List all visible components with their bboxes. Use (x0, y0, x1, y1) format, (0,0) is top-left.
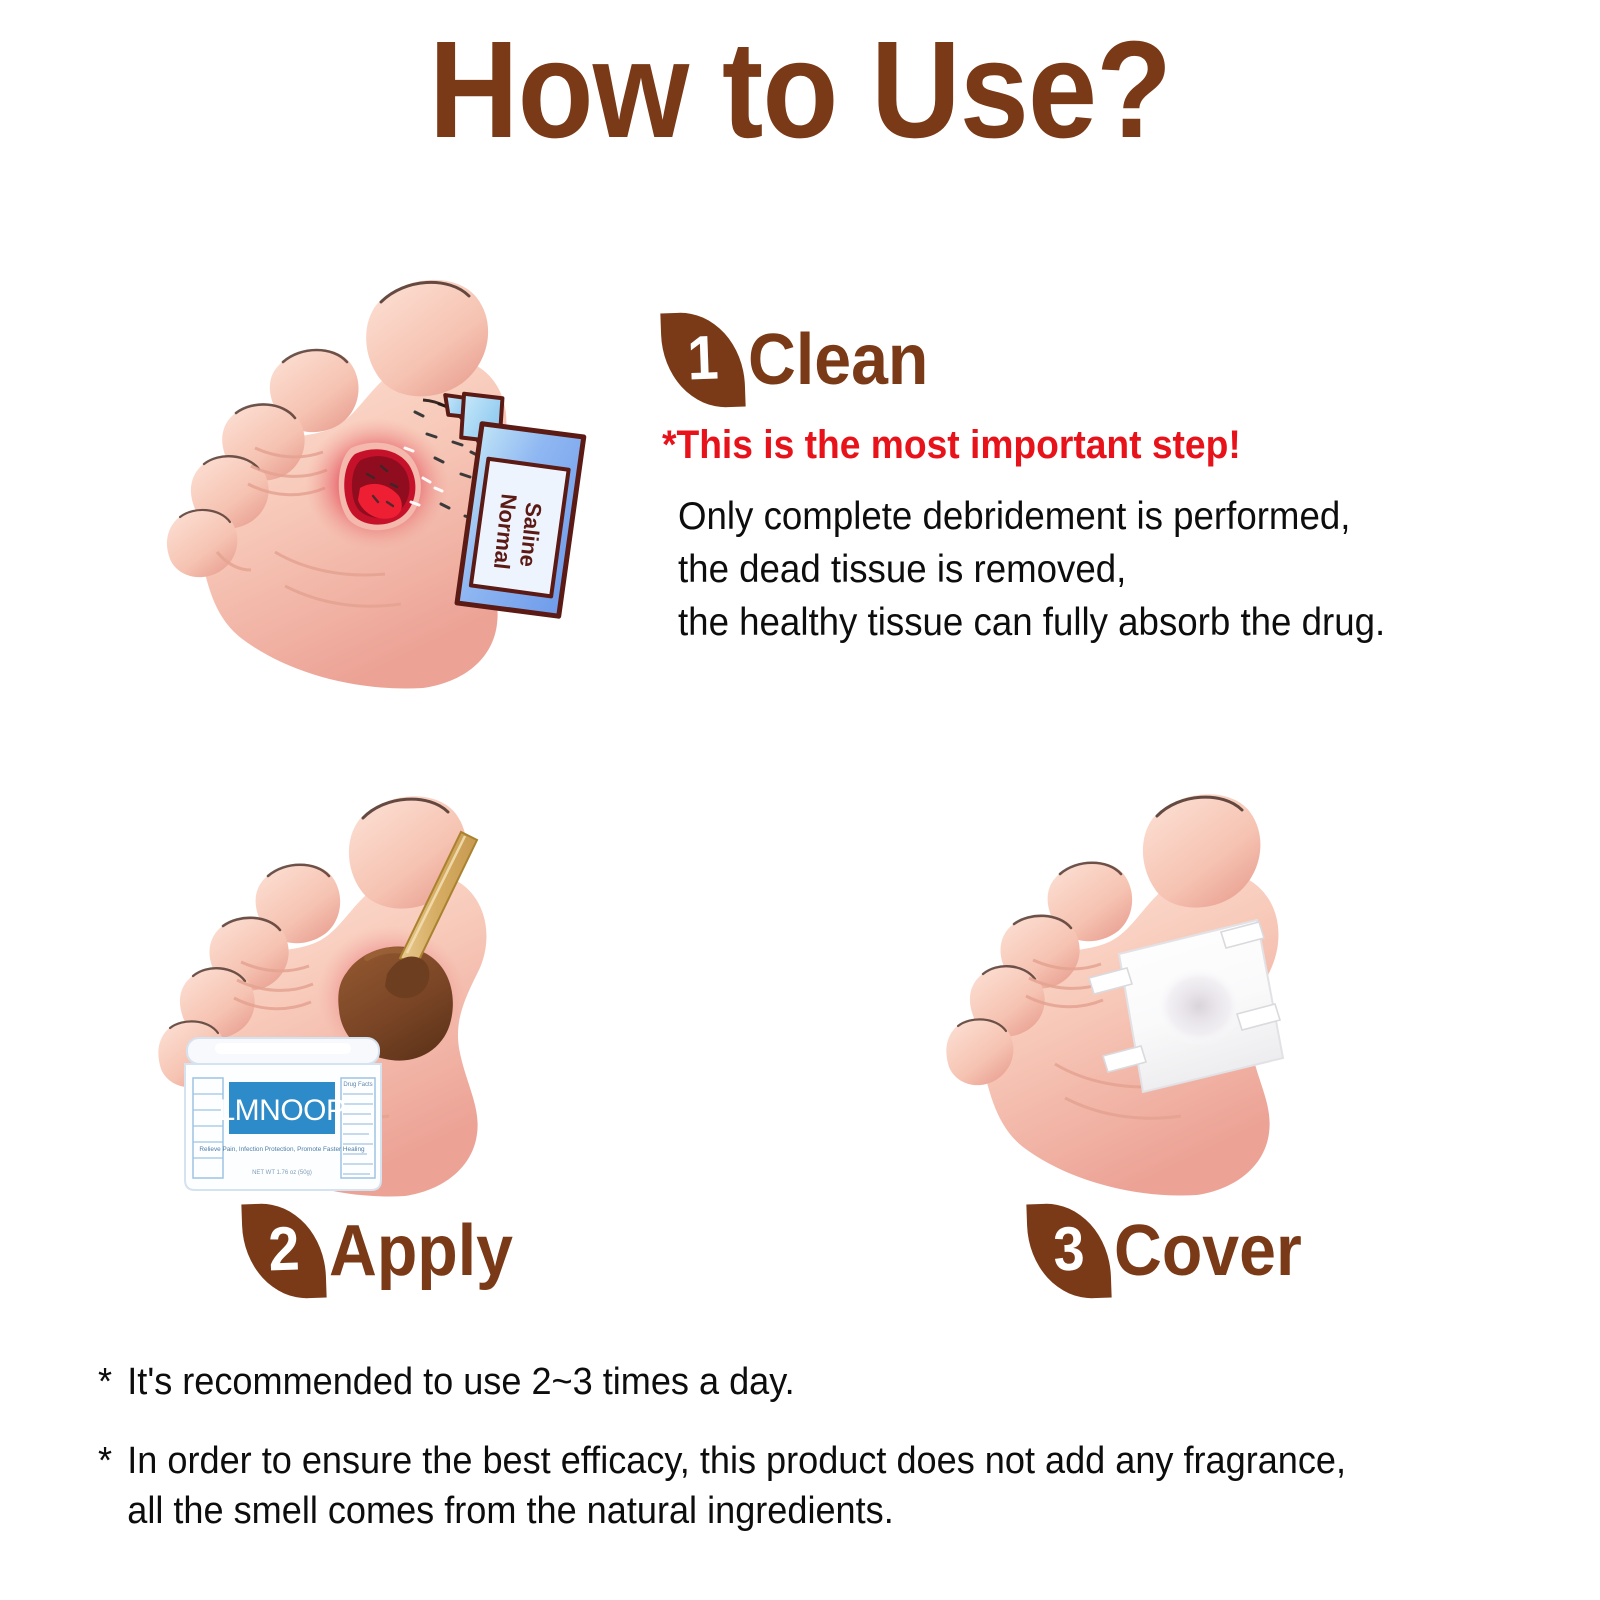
footer-notes: * It's recommended to use 2~3 times a da… (98, 1358, 1518, 1566)
page-title: How to Use? (80, 18, 1520, 163)
footer-note-1-text: It's recommended to use 2~3 times a day. (127, 1358, 794, 1407)
foot-ulcer-with-saline-spray-svg: Normal Saline (105, 252, 625, 692)
step-3-leaf-badge: 3 (1026, 1202, 1111, 1301)
step-2-number: 2 (245, 1200, 322, 1299)
ointment-jar: Drug Facts LMNOOP Relieve Pain, Infectio… (185, 1038, 381, 1190)
footer-note-2-text: In order to ensure the best efficacy, th… (127, 1437, 1346, 1536)
step-1-body-line-2: the dead tissue is removed, (678, 543, 1490, 596)
step-1-body-line-3: the healthy tissue can fully absorb the … (678, 596, 1490, 649)
step-1-leaf-badge: 1 (660, 311, 745, 410)
jar-brand-name: LMNOOP (218, 1094, 345, 1127)
step-3-number: 3 (1030, 1200, 1107, 1299)
step-1-number: 1 (664, 309, 741, 408)
bandage-absorbent-pad (1155, 966, 1243, 1046)
footer-note-1: * It's recommended to use 2~3 times a da… (98, 1358, 1447, 1407)
jar-net-weight: NET WT 1.76 oz (50g) (252, 1170, 312, 1176)
footer-note-2-marker: * (98, 1437, 112, 1536)
step3-heading: 3 Cover (1028, 1203, 1318, 1299)
jar-side-panel-title: Drug Facts (343, 1082, 372, 1088)
step1-heading: 1 Clean (662, 312, 1542, 408)
step-2-leaf-badge: 2 (241, 1202, 326, 1301)
step-1-warning: *This is the most important step! (662, 422, 1480, 468)
jar-lid-highlight (215, 1043, 351, 1054)
step-1-body-line-1: Only complete debridement is performed, (678, 490, 1490, 543)
step3-illustration (885, 762, 1355, 1212)
footer-note-2: * In order to ensure the best efficacy, … (98, 1437, 1447, 1536)
step-3-label: Cover (1114, 1215, 1302, 1287)
step2-heading: 2 Apply (243, 1203, 529, 1299)
step-1-body: Only complete debridement is performed, … (678, 490, 1490, 649)
step-2-label: Apply (329, 1215, 513, 1287)
step2-illustration: Drug Facts LMNOOP Relieve Pain, Infectio… (105, 762, 575, 1212)
foot-with-adhesive-bandage-svg (885, 762, 1355, 1212)
infographic-page: How to Use? (0, 0, 1600, 1600)
step-1-label: Clean (748, 324, 928, 396)
footer-note-1-marker: * (98, 1358, 112, 1407)
step1-text-block: 1 Clean *This is the most important step… (662, 312, 1542, 649)
foot-ulcer-with-ointment-applicator-svg: Drug Facts LMNOOP Relieve Pain, Infectio… (105, 762, 575, 1212)
step1-illustration: Normal Saline (105, 252, 625, 692)
jar-tagline: Relieve Pain, Infection Protection, Prom… (199, 1146, 365, 1153)
